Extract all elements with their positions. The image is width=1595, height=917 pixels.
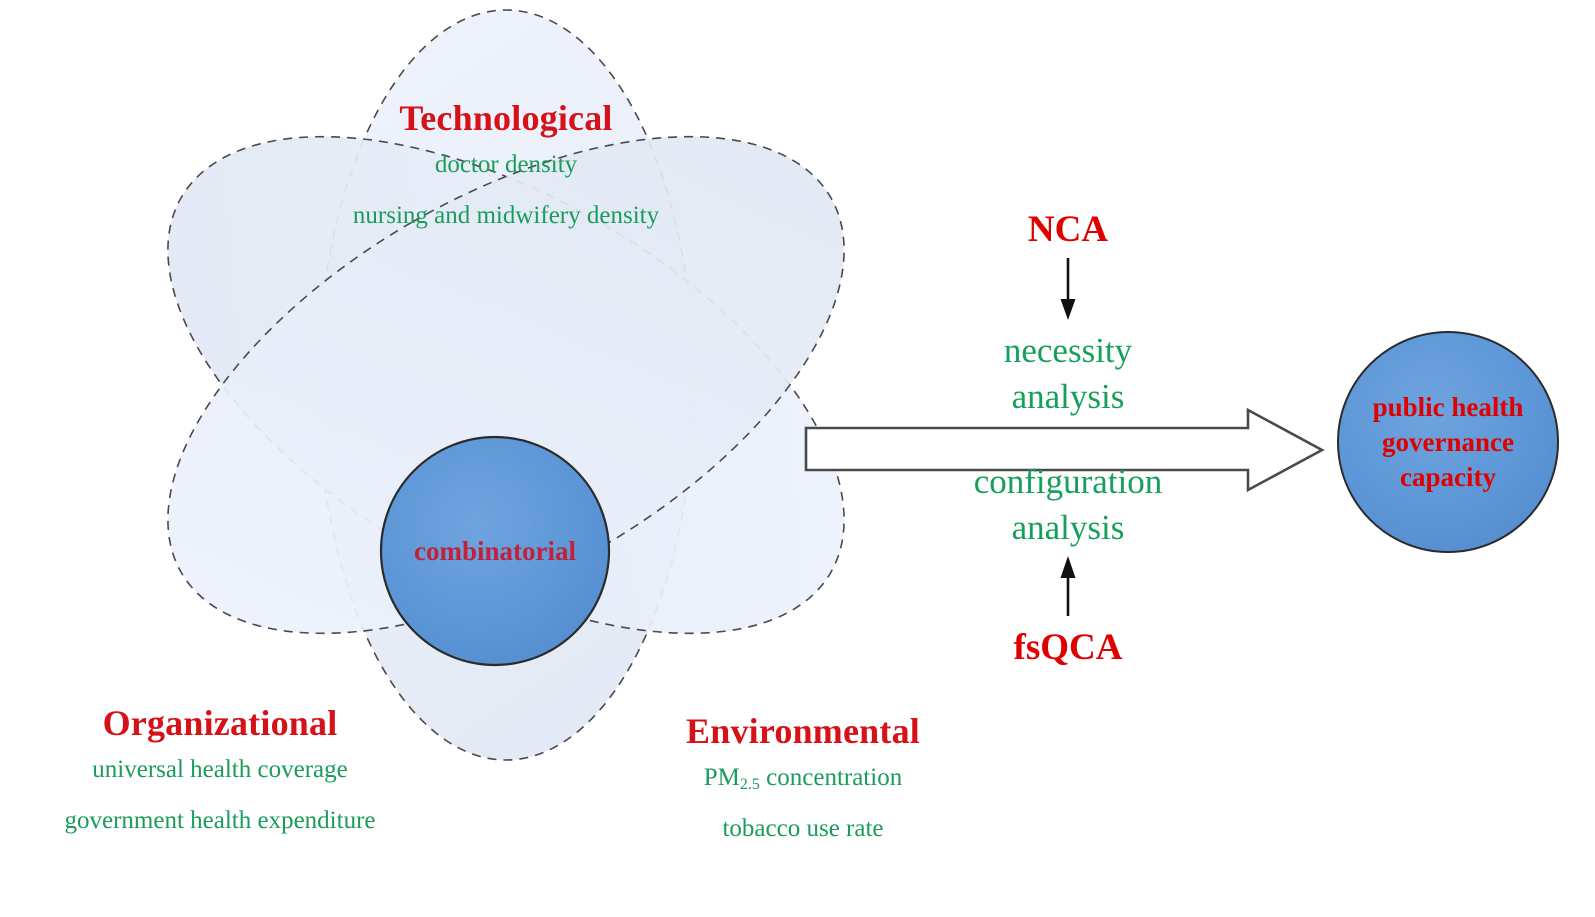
fsqca-up-arrow xyxy=(1061,556,1076,616)
method-phrase-configuration-analysis: configuration analysis xyxy=(948,459,1188,550)
core-label-combinatorial: combinatorial xyxy=(345,536,645,567)
petal-label-environmental: Environmental PM2.5 concentration tobacc… xyxy=(603,713,1003,841)
petal-item-government-health-expenditure: government health expenditure xyxy=(20,808,420,833)
configuration-line-2: analysis xyxy=(948,505,1188,551)
method-label-nca: NCA xyxy=(968,208,1168,251)
petal-label-organizational: Organizational universal health coverage… xyxy=(20,705,420,833)
petal-label-technological: Technological doctor density nursing and… xyxy=(306,100,706,228)
necessity-line-2: analysis xyxy=(948,374,1188,420)
petal-item-universal-health-coverage: universal health coverage xyxy=(20,757,420,782)
petal-title-environmental: Environmental xyxy=(603,713,1003,749)
diagram-canvas: Technological doctor density nursing and… xyxy=(0,0,1595,917)
pm-subscript: 2.5 xyxy=(740,776,760,793)
outcome-line-3: capacity xyxy=(1348,460,1548,495)
method-label-fsqca: fsQCA xyxy=(968,626,1168,669)
petal-item-doctor-density: doctor density xyxy=(306,152,706,177)
outcome-label: public health governance capacity xyxy=(1348,390,1548,495)
configuration-line-1: configuration xyxy=(948,459,1188,505)
pm-prefix: PM xyxy=(704,764,740,791)
pm-suffix: concentration xyxy=(760,764,902,791)
petal-item-nursing-midwifery-density: nursing and midwifery density xyxy=(306,203,706,228)
necessity-line-1: necessity xyxy=(948,328,1188,374)
petal-item-pm25-concentration: PM2.5 concentration xyxy=(603,765,1003,790)
outcome-line-1: public health xyxy=(1348,390,1548,425)
method-phrase-necessity-analysis: necessity analysis xyxy=(948,328,1188,419)
petal-title-technological: Technological xyxy=(306,100,706,136)
nca-down-arrow xyxy=(1061,258,1076,320)
petal-item-tobacco-use-rate: tobacco use rate xyxy=(603,816,1003,841)
outcome-line-2: governance xyxy=(1348,425,1548,460)
petal-title-organizational: Organizational xyxy=(20,705,420,741)
